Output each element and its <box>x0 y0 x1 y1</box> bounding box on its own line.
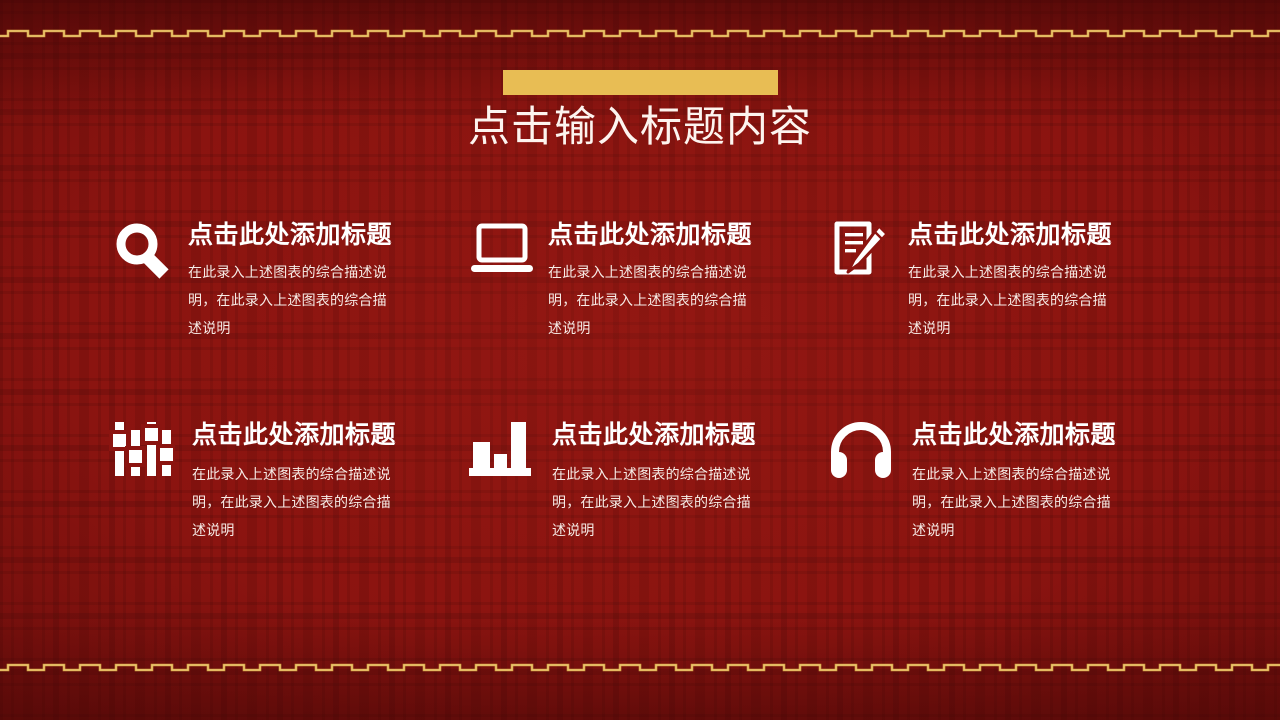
headphones-icon <box>828 418 896 484</box>
feature-item-5[interactable]: 点击此处添加标题 在此录入上述图表的综合描述说明，在此录入上述图表的综合描述说明 <box>468 418 828 618</box>
page-title: 点击输入标题内容 <box>0 102 1280 152</box>
feature-title: 点击此处添加标题 <box>188 220 468 250</box>
sliders-icon <box>108 418 176 484</box>
magnifier-icon <box>108 218 176 284</box>
feature-item-4[interactable]: 点击此处添加标题 在此录入上述图表的综合描述说明，在此录入上述图表的综合描述说明 <box>108 418 468 618</box>
feature-description: 在此录入上述图表的综合描述说明，在此录入上述图表的综合描述说明 <box>552 460 752 544</box>
feature-description: 在此录入上述图表的综合描述说明，在此录入上述图表的综合描述说明 <box>912 460 1112 544</box>
feature-description: 在此录入上述图表的综合描述说明，在此录入上述图表的综合描述说明 <box>908 258 1108 342</box>
feature-description: 在此录入上述图表的综合描述说明，在此录入上述图表的综合描述说明 <box>192 460 392 544</box>
feature-item-6[interactable]: 点击此处添加标题 在此录入上述图表的综合描述说明，在此录入上述图表的综合描述说明 <box>828 418 1188 618</box>
feature-title: 点击此处添加标题 <box>548 220 828 250</box>
top-border-pattern <box>0 28 1280 50</box>
feature-title: 点击此处添加标题 <box>552 420 828 450</box>
feature-description: 在此录入上述图表的综合描述说明，在此录入上述图表的综合描述说明 <box>548 258 748 342</box>
laptop-icon <box>468 218 536 284</box>
feature-item-1[interactable]: 点击此处添加标题 在此录入上述图表的综合描述说明，在此录入上述图表的综合描述说明 <box>108 218 468 418</box>
feature-item-2[interactable]: 点击此处添加标题 在此录入上述图表的综合描述说明，在此录入上述图表的综合描述说明 <box>468 218 828 418</box>
title-accent-bar <box>503 70 778 95</box>
feature-grid: 点击此处添加标题 在此录入上述图表的综合描述说明，在此录入上述图表的综合描述说明… <box>108 218 1188 618</box>
bar-chart-icon <box>468 418 536 484</box>
document-pencil-icon <box>828 218 896 284</box>
feature-title: 点击此处添加标题 <box>192 420 468 450</box>
feature-description: 在此录入上述图表的综合描述说明，在此录入上述图表的综合描述说明 <box>188 258 388 342</box>
feature-title: 点击此处添加标题 <box>908 220 1188 250</box>
feature-item-3[interactable]: 点击此处添加标题 在此录入上述图表的综合描述说明，在此录入上述图表的综合描述说明 <box>828 218 1188 418</box>
presentation-slide: 点击输入标题内容 点击此处添加标题 在此录入上述图表的综合描述说明，在此录入上述… <box>0 0 1280 720</box>
bottom-border-pattern <box>0 662 1280 684</box>
feature-title: 点击此处添加标题 <box>912 420 1188 450</box>
